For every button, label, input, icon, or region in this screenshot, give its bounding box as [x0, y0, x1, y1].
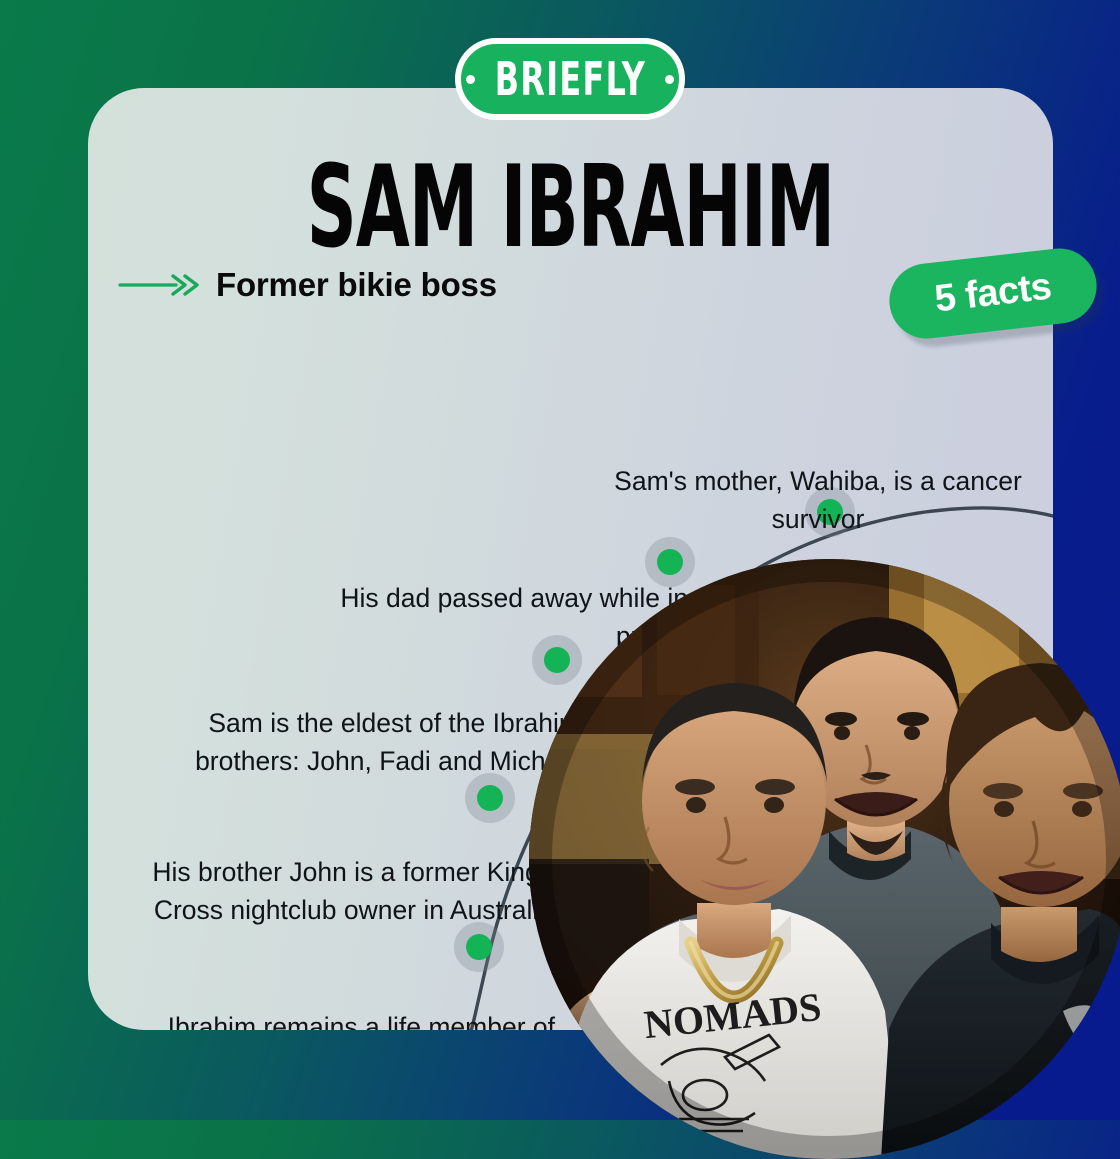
fact-item-4: His brother John is a former Kings Cross… [138, 853, 553, 929]
logo-text: BRIEFLY [494, 52, 646, 106]
brand-logo[interactable]: BRIEFLY [455, 38, 685, 120]
page-title: SAM IBRAHIM [136, 151, 1005, 265]
fact-item-1: Sam's mother, Wahiba, is a cancer surviv… [608, 462, 1028, 538]
infographic-stage: SAM IBRAHIM Former bikie boss [0, 0, 1120, 1120]
bullet-dot-icon-right [665, 75, 674, 84]
portrait-photo: NOMADS [529, 559, 1120, 1159]
subtitle-text: Former bikie boss [216, 266, 497, 304]
photo-illustration: NOMADS [529, 559, 1120, 1159]
bullet-dot-icon-left [466, 75, 475, 84]
subtitle-row: Former bikie boss [118, 266, 497, 304]
logo-pill: BRIEFLY [455, 38, 685, 120]
fact-item-3: Sam is the eldest of the Ibrahim brother… [158, 704, 581, 780]
badge-label: 5 facts [932, 266, 1053, 322]
arrow-right-chevrons-icon [118, 272, 202, 298]
timeline-dot-4 [465, 773, 515, 823]
fact-item-5: Ibrahim remains a life member of the Nom… [128, 1008, 555, 1030]
timeline-dot-5 [454, 922, 504, 972]
